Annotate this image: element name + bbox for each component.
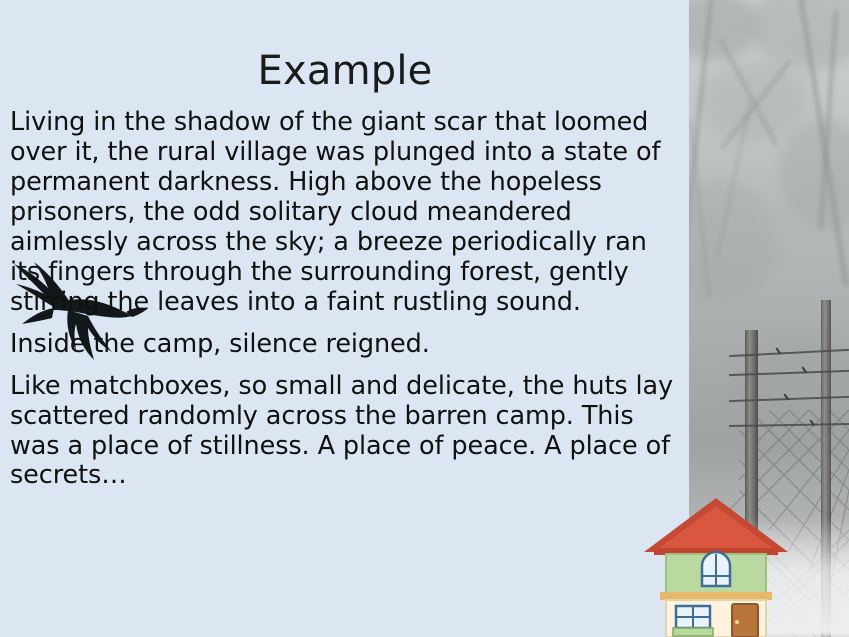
page-title: Example bbox=[0, 0, 690, 94]
paragraph-2: Inside the camp, silence reigned. bbox=[10, 330, 682, 360]
paragraph-1: Living in the shadow of the giant scar t… bbox=[10, 108, 682, 318]
paragraph-3: Like matchboxes, so small and delicate, … bbox=[10, 372, 682, 492]
slide: Example Living in the shadow of the gian… bbox=[0, 0, 849, 637]
body-text: Living in the shadow of the giant scar t… bbox=[0, 108, 690, 491]
slide-content: Example Living in the shadow of the gian… bbox=[0, 0, 690, 637]
